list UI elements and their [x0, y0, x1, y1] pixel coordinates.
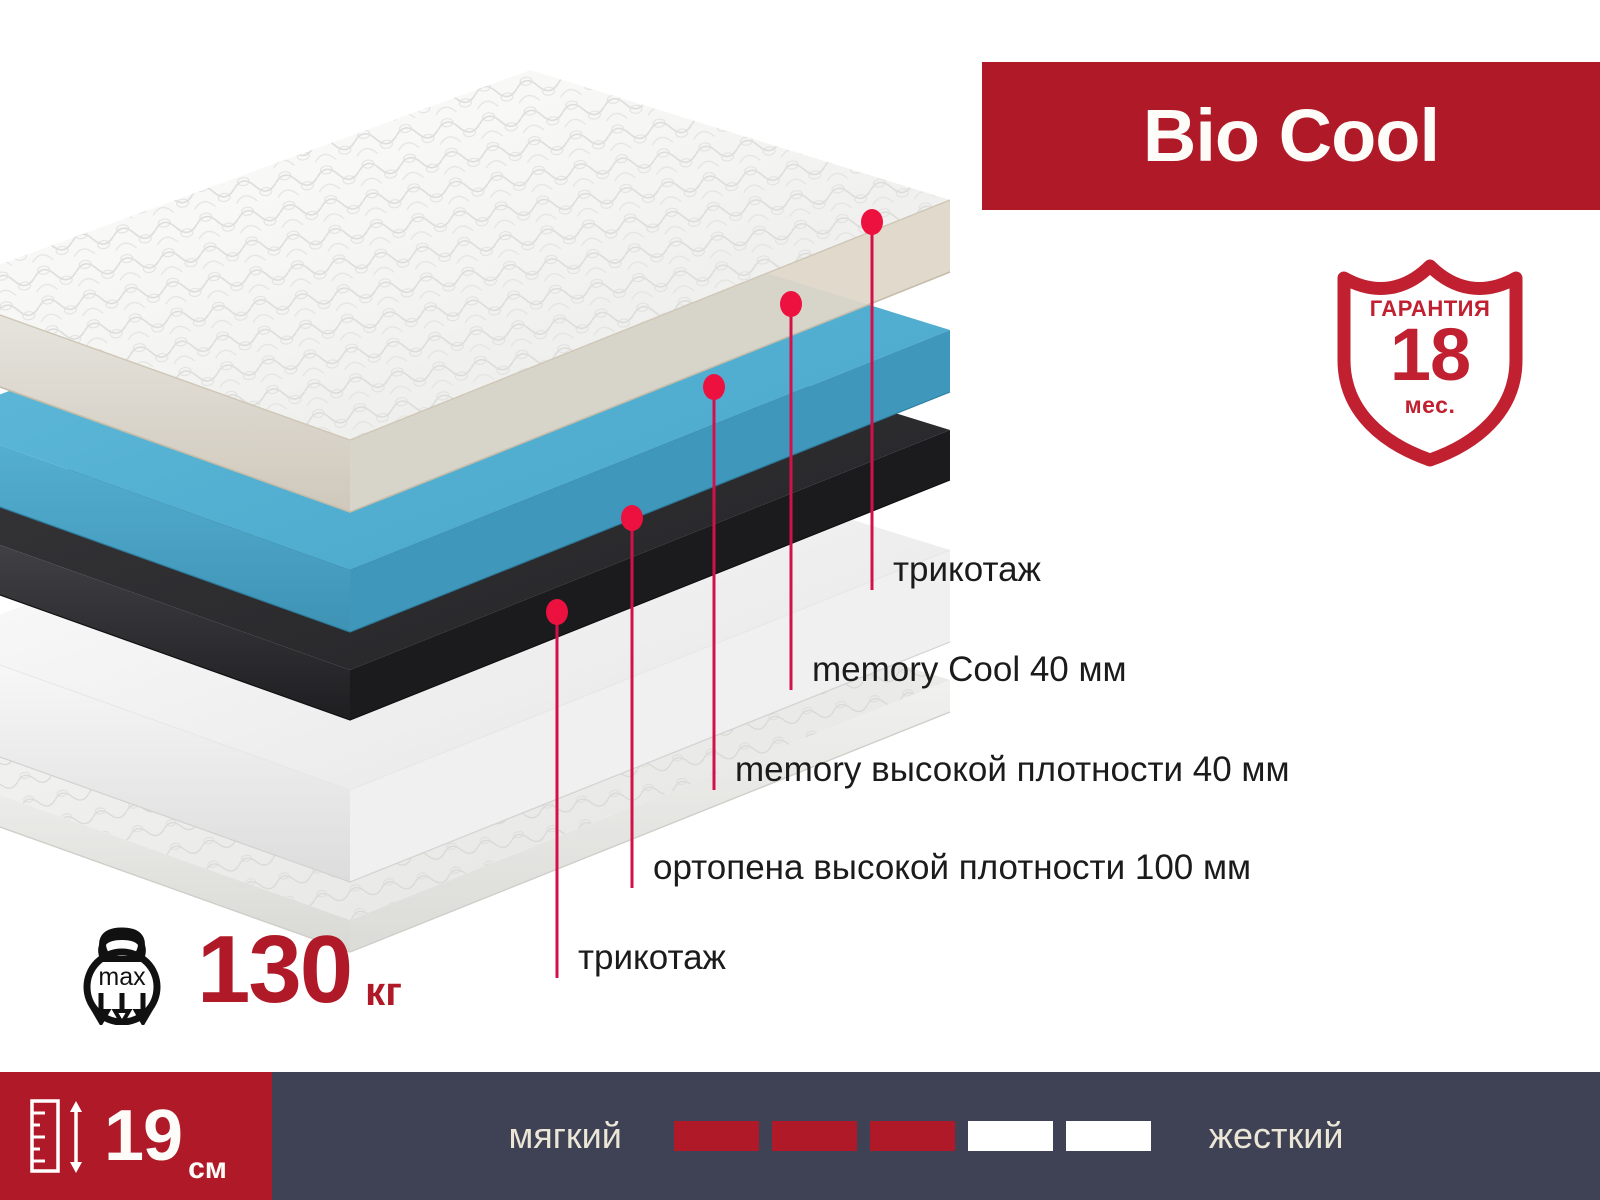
firmness-firm-label: жесткий [1209, 1115, 1344, 1157]
weight-unit: кг [365, 970, 402, 1015]
warranty-number: 18 [1330, 318, 1530, 392]
firmness-scale [674, 1121, 1151, 1151]
mattress-illustration [0, 120, 970, 920]
height-block: 19 см [0, 1072, 272, 1200]
height-unit: см [188, 1152, 227, 1186]
kettlebell-max-text: max [98, 963, 146, 991]
weight-value: 130 [197, 922, 351, 1018]
firmness-block: мягкий жесткий [272, 1072, 1600, 1200]
callout-label-knit-bottom: трикотаж [578, 940, 726, 975]
infographic-canvas: Bio Cool ГАРАНТИЯ 18 мес. [0, 0, 1600, 1200]
bottom-bar: 19 см мягкий жесткий [0, 1072, 1600, 1200]
firmness-segment-3 [870, 1121, 955, 1151]
height-value: 19 [104, 1100, 182, 1172]
firmness-segment-5 [1066, 1121, 1151, 1151]
brand-banner: Bio Cool [982, 62, 1600, 210]
kettlebell-icon: max [70, 915, 175, 1025]
firmness-segment-4 [968, 1121, 1053, 1151]
firmness-soft-label: мягкий [509, 1115, 622, 1157]
brand-title: Bio Cool [1143, 99, 1439, 173]
firmness-segment-1 [674, 1121, 759, 1151]
warranty-unit: мес. [1330, 392, 1530, 419]
ruler-icon [28, 1097, 90, 1175]
firmness-segment-2 [772, 1121, 857, 1151]
weight-capacity-block: max 130 кг [70, 915, 402, 1025]
warranty-badge: ГАРАНТИЯ 18 мес. [1330, 252, 1530, 467]
